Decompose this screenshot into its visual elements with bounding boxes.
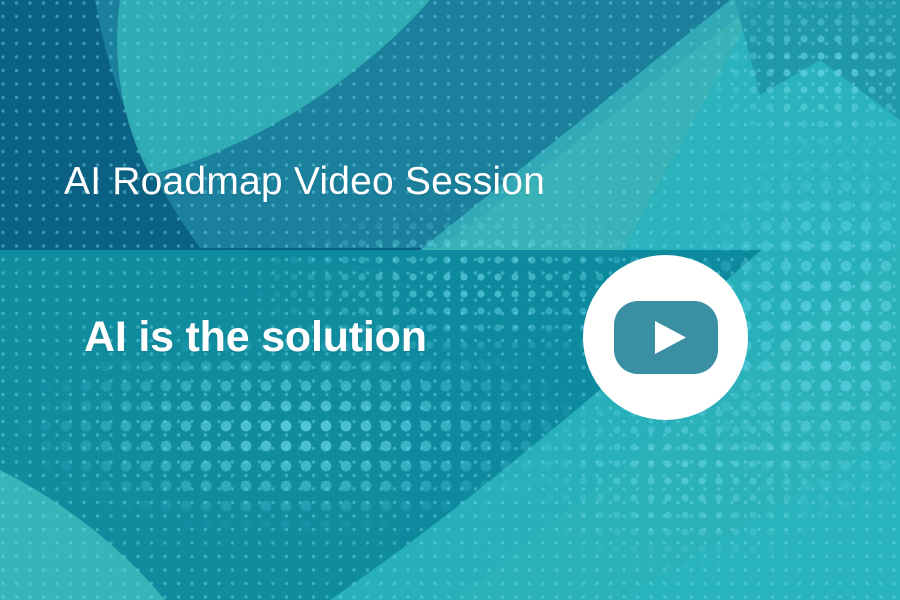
video-thumbnail: AI Roadmap Video Session AI is the solut…	[0, 0, 900, 600]
play-button[interactable]	[583, 255, 748, 420]
play-icon	[614, 301, 718, 374]
background-shapes	[0, 0, 900, 600]
